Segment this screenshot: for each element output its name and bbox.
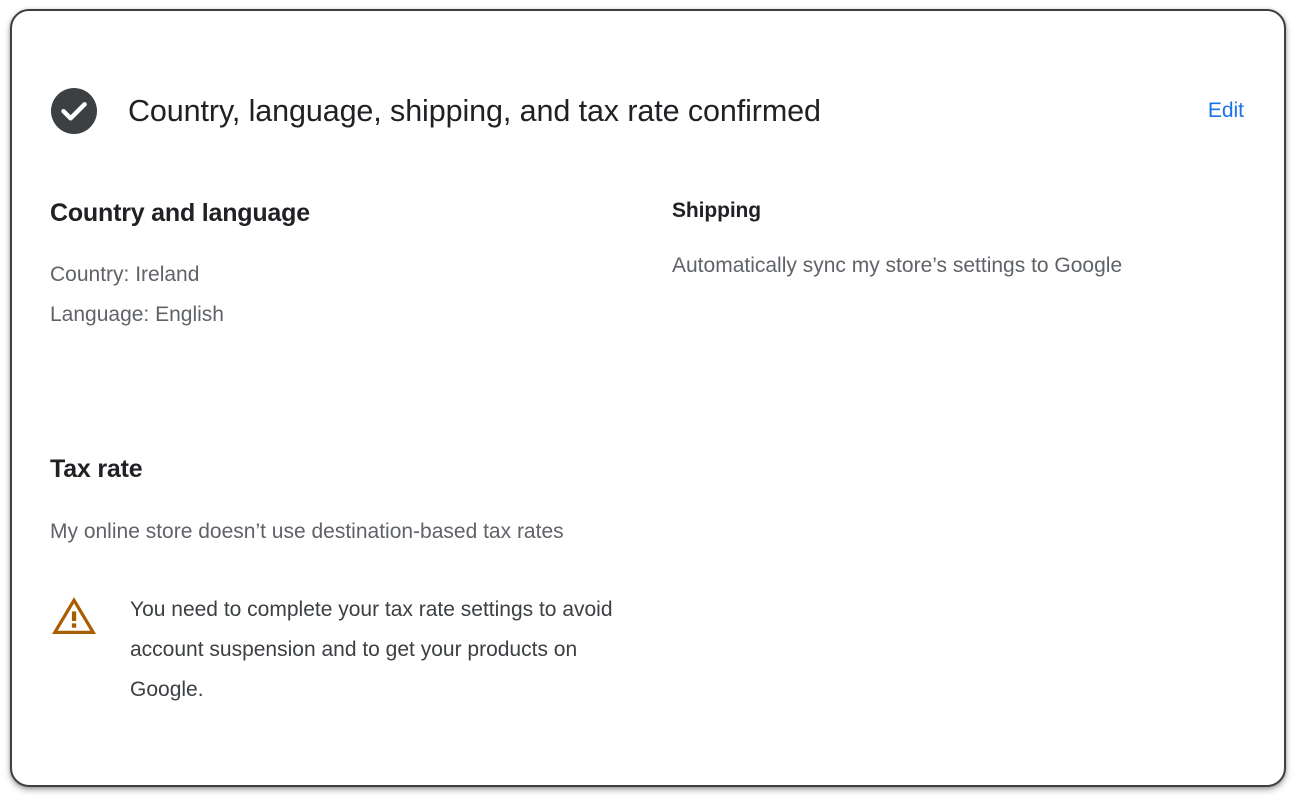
confirmation-card: Country, language, shipping, and tax rat… (10, 9, 1286, 787)
edit-link[interactable]: Edit (1208, 97, 1246, 125)
screen: Country, language, shipping, and tax rat… (0, 0, 1296, 800)
left-column: Country and language Country: Ireland La… (50, 197, 650, 710)
country-language-heading: Country and language (50, 197, 650, 229)
section-country-and-language: Country and language Country: Ireland La… (50, 197, 650, 335)
check-circle-filled-icon (50, 87, 98, 135)
card-body: Country and language Country: Ireland La… (50, 197, 1254, 785)
country-value: Country: Ireland (50, 255, 650, 295)
tax-rate-description: My online store doesn’t use destination-… (50, 511, 580, 552)
tax-rate-warning: You need to complete your tax rate setti… (52, 590, 650, 710)
right-column: Shipping Automatically sync my store’s s… (672, 197, 1232, 286)
shipping-description: Automatically sync my store’s settings t… (672, 245, 1202, 286)
section-tax-rate: Tax rate My online store doesn’t use des… (50, 453, 650, 710)
language-value: Language: English (50, 295, 650, 335)
card-header: Country, language, shipping, and tax rat… (50, 81, 1246, 141)
tax-rate-heading: Tax rate (50, 453, 650, 485)
tax-rate-warning-message: You need to complete your tax rate setti… (130, 590, 630, 710)
section-shipping: Shipping Automatically sync my store’s s… (672, 197, 1232, 286)
shipping-heading: Shipping (672, 197, 1232, 225)
warning-triangle-icon (52, 590, 100, 630)
page-title: Country, language, shipping, and tax rat… (128, 92, 821, 130)
